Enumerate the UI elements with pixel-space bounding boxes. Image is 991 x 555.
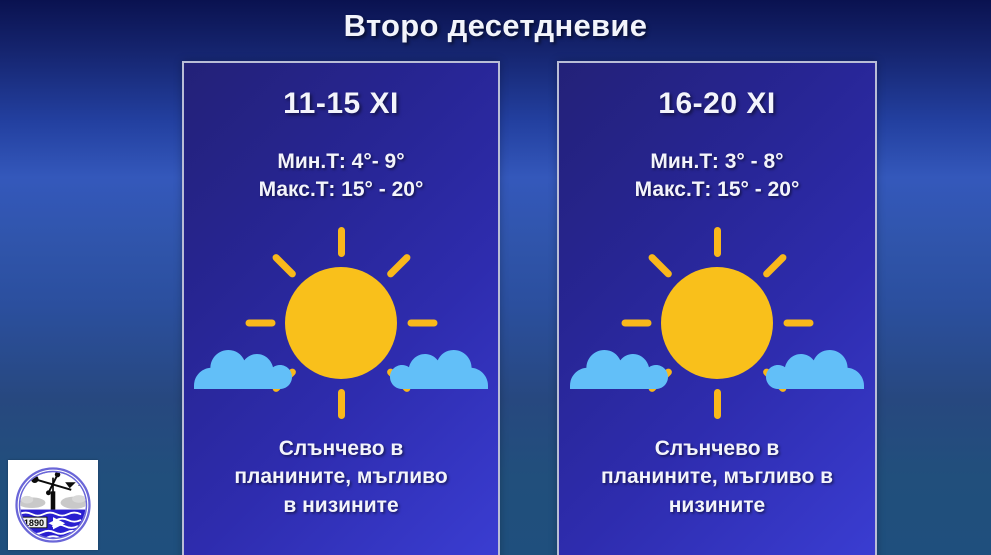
forecast-period-label: 16-20 XI <box>658 87 775 121</box>
forecast-description-line: планините, мъгливо в <box>601 463 833 491</box>
sun-ray-icon <box>714 389 721 419</box>
sun-ray-icon <box>338 227 345 257</box>
min-temperature-label: Мин.Т: 4°- 9° <box>259 148 424 176</box>
sun-disc-icon <box>285 267 397 379</box>
forecast-card-first-period: 11-15 XI Мин.Т: 4°- 9° Макс.Т: 15° - 20° <box>182 61 500 555</box>
cloud-left-icon <box>570 337 668 389</box>
meteorology-institute-logo: N 1890 <box>8 460 98 550</box>
sun-ray-icon <box>407 320 437 327</box>
cloud-left-icon <box>194 337 292 389</box>
temperature-block: Мин.Т: 4°- 9° Макс.Т: 15° - 20° <box>259 148 424 204</box>
forecast-description: Слънчево в планините, мъгливо в низините <box>222 435 459 520</box>
sun-disc-icon <box>661 267 773 379</box>
sun-with-clouds-icon <box>196 216 486 431</box>
sun-with-clouds-icon <box>572 216 862 431</box>
sun-ray-icon <box>385 253 411 279</box>
min-temperature-label: Мин.Т: 3° - 8° <box>635 148 800 176</box>
weather-forecast-slide: Второ десетдневие 11-15 XI Мин.Т: 4°- 9°… <box>0 0 991 555</box>
sun-ray-icon <box>783 320 813 327</box>
forecast-period-label: 11-15 XI <box>283 87 399 121</box>
forecast-description-line: Слънчево в <box>234 435 447 463</box>
forecast-description-line: низините <box>601 492 833 520</box>
cloud-right-icon <box>766 337 864 389</box>
sun-ray-icon <box>621 320 651 327</box>
page-title: Второ десетдневие <box>0 8 991 44</box>
sun-ray-icon <box>245 320 275 327</box>
cloud-right-icon <box>390 337 488 389</box>
forecast-description-line: Слънчево в <box>601 435 833 463</box>
forecast-card-second-period: 16-20 XI Мин.Т: 3° - 8° Макс.Т: 15° - 20… <box>557 61 877 555</box>
max-temperature-label: Макс.Т: 15° - 20° <box>259 176 424 204</box>
temperature-block: Мин.Т: 3° - 8° Макс.Т: 15° - 20° <box>635 148 800 204</box>
forecast-description-line: планините, мъгливо <box>234 463 447 491</box>
sun-ray-icon <box>761 253 787 279</box>
sun-ray-icon <box>714 227 721 257</box>
max-temperature-label: Макс.Т: 15° - 20° <box>635 176 800 204</box>
sun-ray-icon <box>271 253 297 279</box>
sun-ray-icon <box>338 389 345 419</box>
sun-ray-icon <box>647 253 673 279</box>
forecast-description-line: в низините <box>234 492 447 520</box>
forecast-description: Слънчево в планините, мъгливо в низините <box>595 435 839 520</box>
